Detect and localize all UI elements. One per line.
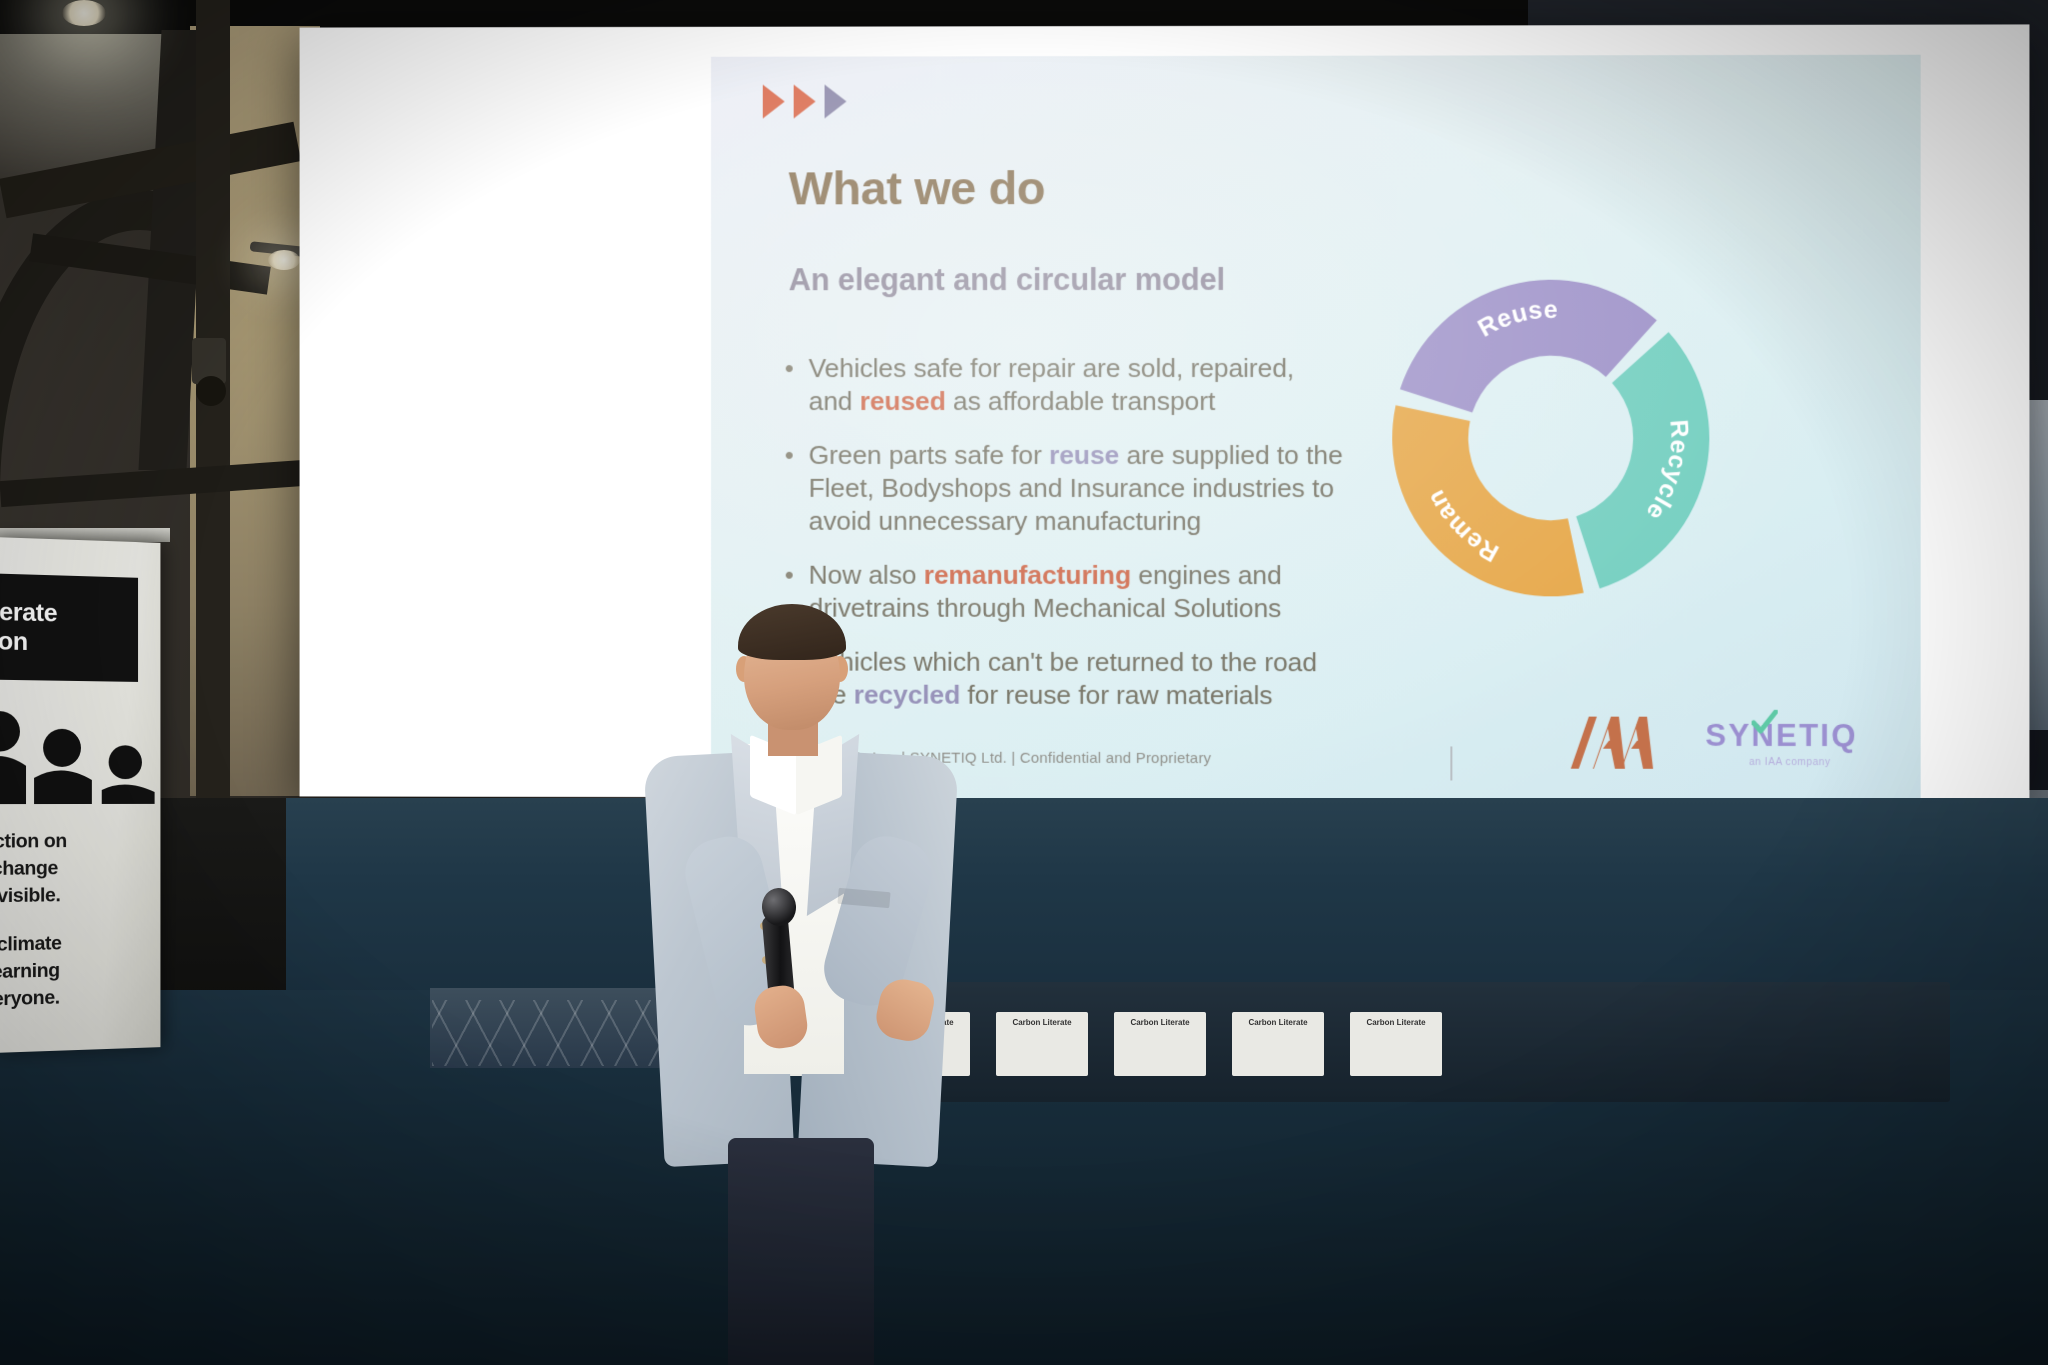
- banner-body-line: r everyone.: [0, 982, 139, 1014]
- donut-svg: ReuseRecycleReman: [1390, 278, 1711, 599]
- synetiq-logo: SYNETIQ an IAA company: [1705, 718, 1874, 768]
- slide-title: What we do: [789, 160, 1045, 215]
- slide-logos: SYNETIQ an IAA company: [1567, 715, 1875, 772]
- leaflet-label: Carbon Literate: [1248, 1018, 1307, 1027]
- bullet-item: •Vehicles safe for repair are sold, repa…: [785, 352, 1344, 418]
- text-run: Green parts safe for: [809, 440, 1049, 470]
- leaflet: Carbon Literate: [996, 1012, 1088, 1076]
- spotlight-icon: [268, 250, 300, 270]
- projection-screen: What we do An elegant and circular model…: [300, 24, 2030, 799]
- leaflet: Carbon Literate: [1114, 1012, 1206, 1076]
- check-mark-icon: [1752, 710, 1778, 736]
- banner-body-line: ur action on: [0, 828, 139, 856]
- banner-body-line: ate change: [0, 855, 139, 884]
- footer-divider: [1450, 746, 1452, 780]
- chevron-accent-group: [763, 84, 847, 118]
- synetiq-wordmark: SYNETIQ: [1705, 718, 1874, 754]
- people-group-icon: [0, 707, 155, 804]
- slide-subtitle: An elegant and circular model: [789, 262, 1225, 298]
- leaflet-label: Carbon Literate: [1366, 1018, 1425, 1027]
- leaflet: Carbon Literate: [1350, 1012, 1442, 1076]
- support-column: [196, 0, 230, 820]
- ceiling-light-icon: [62, 0, 106, 26]
- chevron-right-icon: [825, 84, 847, 118]
- speaker-person: [640, 598, 980, 1365]
- circular-model-donut-chart: ReuseRecycleReman: [1390, 278, 1711, 599]
- banner-headline-line: Literate: [0, 597, 138, 630]
- trousers: [728, 1138, 874, 1365]
- donut-segment-reman: [1392, 405, 1583, 596]
- highlight-orange: reused: [860, 386, 946, 416]
- chevron-right-icon: [763, 85, 785, 119]
- banner-body-1: ur action onate changeade visible.: [0, 828, 139, 911]
- leaflet: Carbon Literate: [1232, 1012, 1324, 1076]
- bullet-text: Green parts safe for reuse are supplied …: [809, 439, 1345, 538]
- banner-body-line: ade visible.: [0, 881, 139, 911]
- text-run: for reuse for raw materials: [960, 680, 1272, 710]
- chevron-right-icon: [794, 85, 816, 119]
- banner-headline-line: ation: [0, 626, 138, 659]
- iaa-logo-svg: [1567, 715, 1653, 771]
- highlight-purple: reuse: [1049, 440, 1119, 470]
- leaflet-label: Carbon Literate: [1130, 1018, 1189, 1027]
- iaa-logo-icon: [1567, 715, 1653, 771]
- security-camera-lens-icon: [196, 376, 226, 406]
- bullet-item: •Green parts safe for reuse are supplied…: [785, 439, 1344, 538]
- synetiq-tagline: an IAA company: [1705, 757, 1874, 768]
- leaflet-label: Carbon Literate: [1012, 1018, 1071, 1027]
- highlight-orange: remanufacturing: [924, 560, 1131, 590]
- bullet-text: Vehicles safe for repair are sold, repai…: [809, 352, 1345, 418]
- text-run: Now also: [809, 560, 924, 590]
- banner-body-line: tive climate: [0, 929, 139, 960]
- banner-headline-block: Literateation: [0, 573, 138, 682]
- stage-backdrop: [286, 798, 2048, 998]
- bullet-marker: •: [785, 439, 809, 538]
- banner-body-2: tive climatege learningr everyone.: [0, 929, 139, 1015]
- text-run: as affordable transport: [946, 386, 1215, 416]
- hair: [738, 604, 846, 660]
- carbon-literate-banner: Literateation ur action onate changeade …: [0, 537, 160, 1053]
- bullet-marker: •: [785, 352, 809, 418]
